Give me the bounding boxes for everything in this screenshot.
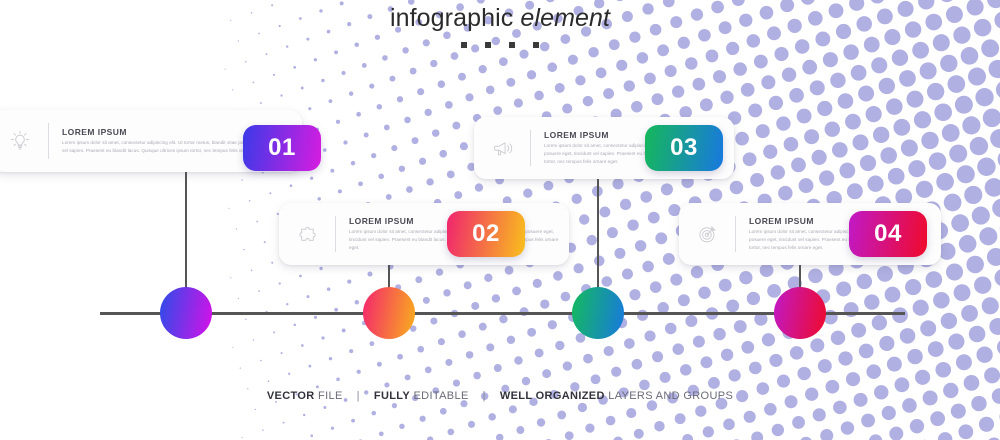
timeline-node-3[interactable] — [572, 287, 624, 339]
timeline-node-4[interactable] — [774, 287, 826, 339]
footer-item2-rest: EDITABLE — [413, 390, 468, 402]
footer-item3-bold: WELL ORGANIZED — [500, 390, 605, 402]
step-badge-3[interactable]: 03 — [645, 125, 723, 171]
footer-item1-bold: VECTOR — [267, 390, 315, 402]
footer-item1-rest: FILE — [318, 390, 343, 402]
step-badge-number: 01 — [268, 134, 296, 162]
step-badge-4[interactable]: 04 — [849, 211, 927, 257]
title-block: infographic element — [0, 4, 1000, 48]
title-regular-part: infographic — [390, 4, 513, 32]
footer-item2-bold: FULLY — [374, 390, 410, 402]
step-card-2[interactable]: LOREM IPSUM Lorem ipsum dolor sit amet, … — [279, 203, 569, 265]
step-badge-number: 04 — [874, 220, 902, 248]
footer-caption: VECTOR FILE|FULLY EDITABLE|WELL ORGANIZE… — [0, 390, 1000, 402]
puzzle-piece-icon — [279, 222, 335, 247]
title-dot — [509, 42, 515, 48]
lightbulb-icon — [0, 128, 48, 154]
timeline-node-1[interactable] — [160, 287, 212, 339]
step-badge-2[interactable]: 02 — [447, 211, 525, 257]
title-dot — [533, 42, 539, 48]
step-badge-1[interactable]: 01 — [243, 125, 321, 171]
title-dot-row — [0, 42, 1000, 48]
step-badge-number: 03 — [670, 134, 698, 162]
title-dot — [461, 42, 467, 48]
target-icon — [679, 222, 735, 247]
page-title: infographic element — [0, 4, 1000, 33]
footer-separator: | — [469, 390, 500, 402]
step-badge-number: 02 — [472, 220, 500, 248]
timeline-node-2[interactable] — [363, 287, 415, 339]
megaphone-icon — [474, 136, 530, 161]
infographic-canvas: infographic element LOREM IPSUM — [0, 0, 1000, 440]
footer-separator: | — [343, 390, 374, 402]
title-dot — [485, 42, 491, 48]
title-italic-part: element — [520, 4, 610, 32]
footer-item3-rest: LAYERS AND GROUPS — [608, 390, 733, 402]
